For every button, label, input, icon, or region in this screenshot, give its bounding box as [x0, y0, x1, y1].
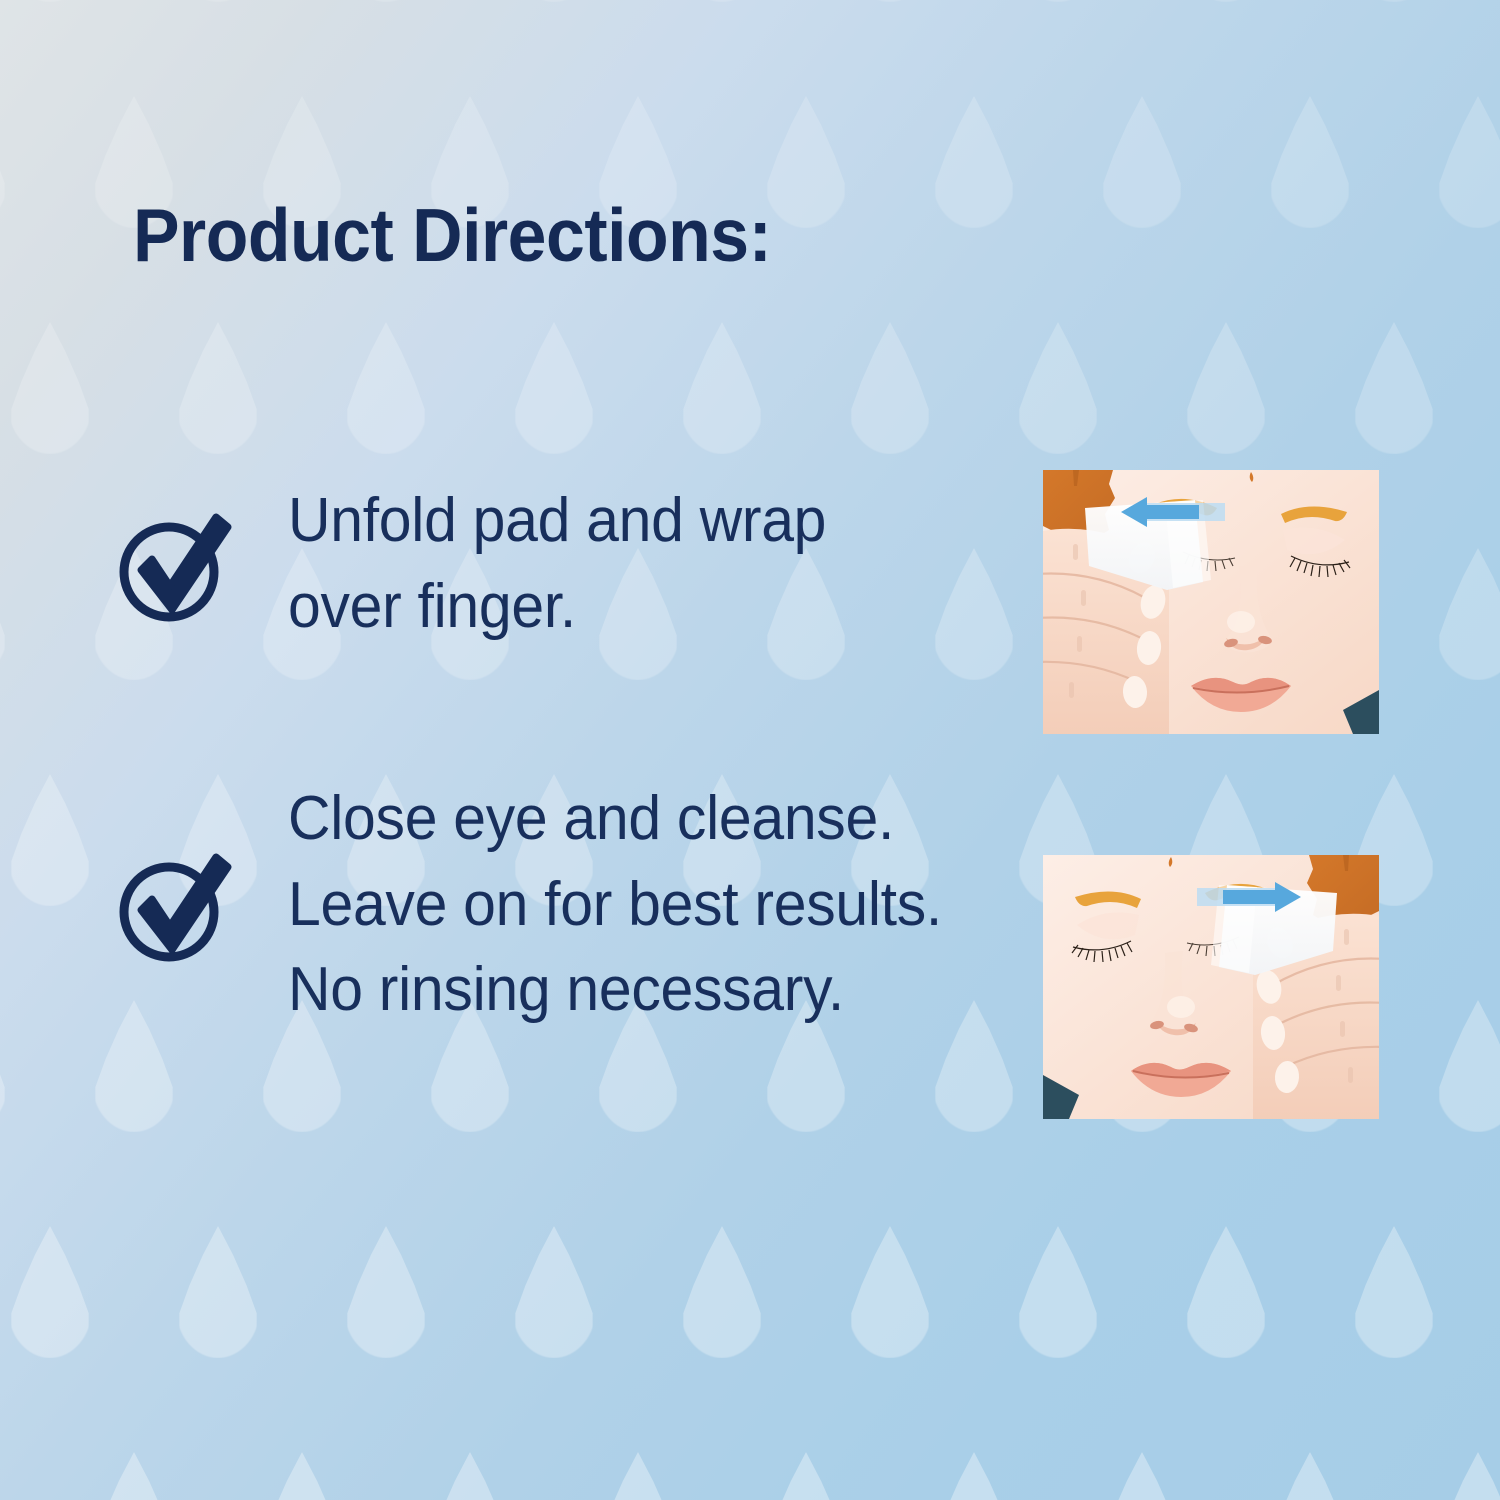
water-droplet-icon	[512, 0, 596, 2]
water-droplet-icon	[1436, 96, 1500, 228]
check-circle-icon	[112, 506, 234, 628]
water-droplet-icon	[680, 0, 764, 2]
water-droplet-icon	[8, 1226, 92, 1358]
water-droplet-icon	[1436, 1000, 1500, 1132]
water-droplet-icon	[680, 322, 764, 454]
product-directions-infographic: Product Directions: Unfold pad and wrap …	[0, 0, 1500, 1500]
water-droplet-icon	[344, 322, 428, 454]
check-circle-icon	[112, 846, 234, 968]
water-droplet-icon	[932, 1452, 1016, 1500]
close-eye-cleanse-illustration	[1043, 855, 1379, 1119]
water-droplet-icon	[1016, 1226, 1100, 1358]
water-droplet-icon	[1016, 322, 1100, 454]
water-droplet-icon	[512, 322, 596, 454]
water-droplet-icon	[512, 1226, 596, 1358]
unfold-pad-illustration	[1043, 470, 1379, 734]
water-droplet-icon	[932, 96, 1016, 228]
water-droplet-icon	[1184, 0, 1268, 2]
water-droplet-icon	[596, 1452, 680, 1500]
water-droplet-icon	[8, 322, 92, 454]
water-droplet-icon	[0, 1000, 8, 1132]
water-droplet-icon	[176, 1226, 260, 1358]
water-droplet-icon	[1352, 1226, 1436, 1358]
direction-item-2: Close eye and cleanse. Leave on for best…	[112, 776, 988, 1033]
water-droplet-icon	[0, 96, 8, 228]
water-droplet-icon	[848, 322, 932, 454]
water-droplet-icon	[344, 1226, 428, 1358]
water-droplet-icon	[764, 96, 848, 228]
water-droplet-icon	[1016, 0, 1100, 2]
water-droplet-icon	[1352, 322, 1436, 454]
water-droplet-icon	[848, 1226, 932, 1358]
water-droplet-icon	[176, 0, 260, 2]
direction-text-2: Close eye and cleanse. Leave on for best…	[288, 776, 953, 1033]
water-droplet-icon	[764, 1452, 848, 1500]
water-droplet-icon	[1100, 1452, 1184, 1500]
water-droplet-icon	[0, 548, 8, 680]
water-droplet-icon	[428, 1452, 512, 1500]
water-droplet-icon	[1100, 96, 1184, 228]
water-droplet-icon	[260, 1452, 344, 1500]
direction-text-1: Unfold pad and wrap over finger.	[288, 478, 915, 649]
water-droplet-icon	[0, 1452, 8, 1500]
water-droplet-icon	[8, 774, 92, 906]
water-droplet-icon	[1268, 96, 1352, 228]
page-title: Product Directions:	[133, 196, 771, 275]
water-droplet-icon	[176, 322, 260, 454]
water-droplet-icon	[680, 1226, 764, 1358]
water-droplet-icon	[1352, 0, 1436, 2]
water-droplet-icon	[8, 0, 92, 2]
water-droplet-icon	[92, 1452, 176, 1500]
water-droplet-icon	[1184, 1226, 1268, 1358]
water-droplet-icon	[344, 0, 428, 2]
water-droplet-icon	[848, 0, 932, 2]
water-droplet-icon	[1436, 548, 1500, 680]
water-droplet-icon	[1184, 322, 1268, 454]
water-droplet-icon	[1436, 1452, 1500, 1500]
water-droplet-icon	[1268, 1452, 1352, 1500]
direction-item-1: Unfold pad and wrap over finger.	[112, 478, 948, 649]
